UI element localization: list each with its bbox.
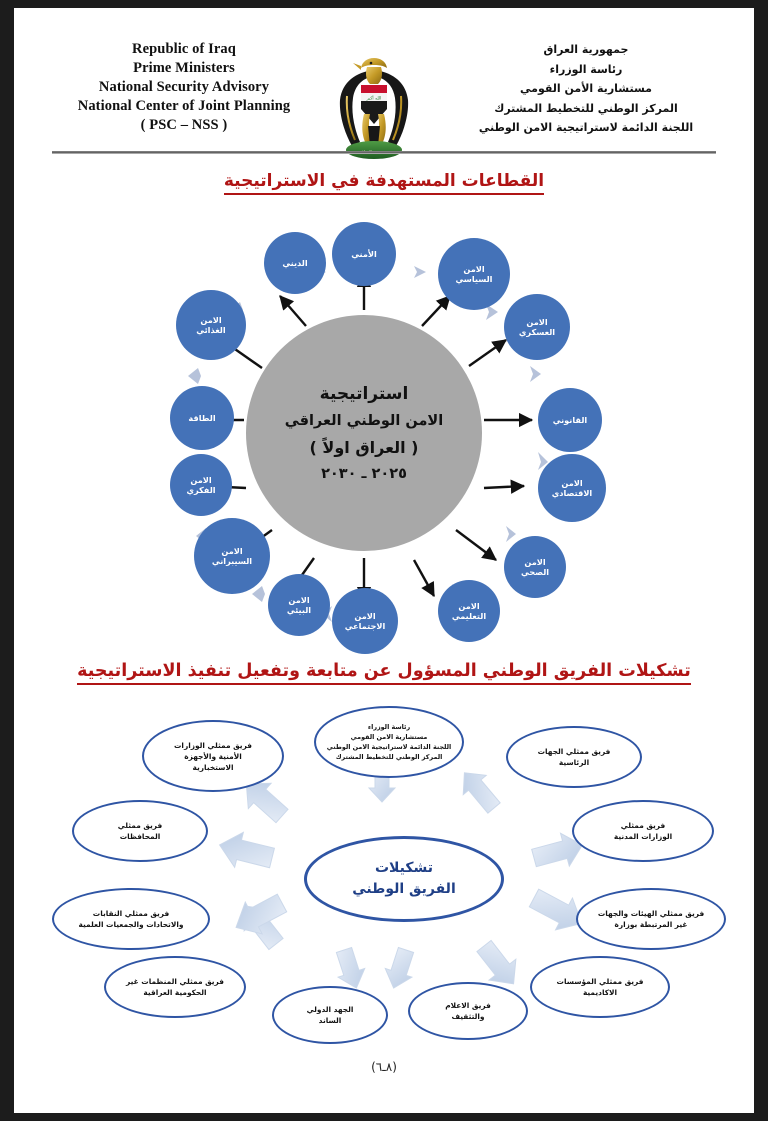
top-node-line-4: المركز الوطني للتخطيط المشترك: [327, 752, 451, 762]
team-label-civil-ministries: فريق ممثليالوزارات المدنية: [614, 820, 672, 842]
svg-text:الله أكبر: الله أكبر: [366, 94, 382, 101]
team-label-ngo: فريق ممثلي المنظمات غيرالحكومية العراقية: [126, 976, 224, 998]
sector-node-economic[interactable]: الامنالاقتصادي: [538, 454, 606, 522]
sector-node-legal[interactable]: القانوني: [538, 388, 602, 452]
document-page: Republic of Iraq Prime Ministers Nationa…: [14, 8, 754, 1113]
sector-node-security[interactable]: الأمني: [332, 222, 396, 286]
team-label-media: فريق الاعلاموالتثقيف: [445, 1000, 491, 1022]
center-node-line-2: الفريق الوطني: [352, 879, 456, 900]
top-node-line-2: مستشارية الامن القومي: [327, 732, 451, 742]
team-ellipse-civil-ministries[interactable]: فريق ممثليالوزارات المدنية: [572, 800, 714, 862]
core-line-3: ( العراق اولاً ): [310, 438, 419, 457]
section-2-title-text: تشكيلات الفريق الوطني المسؤول عن متابعة …: [77, 661, 691, 685]
header-en-line-2: Prime Ministers: [54, 59, 314, 78]
sector-node-environment[interactable]: الامنالبيئي: [268, 574, 330, 636]
team-label-presidential: فريق ممثلي الجهاتالرئاسية: [538, 746, 611, 768]
team-label-governorates: فريق ممثليالمحافظات: [118, 820, 163, 842]
sector-node-energy[interactable]: الطاقة: [170, 386, 234, 450]
header-ar-line-3: مستشارية الأمن القومي: [436, 79, 736, 99]
team-label-security-ministries: فريق ممثلي الوزاراتالأمنية والأجهزةالاست…: [174, 740, 252, 773]
team-ellipse-governorates[interactable]: فريق ممثليالمحافظات: [72, 800, 208, 862]
header-english-block: Republic of Iraq Prime Ministers Nationa…: [54, 40, 314, 135]
team-ellipse-non-ministerial[interactable]: فريق ممثلي الهيئات والجهاتغير المرتبطة ب…: [576, 888, 726, 950]
header-en-line-1: Republic of Iraq: [54, 40, 314, 59]
sector-node-health[interactable]: الامنالصحي: [504, 536, 566, 598]
national-team-formations-diagram: رئاسة الوزراء مستشارية الامن القومي اللج…: [14, 698, 754, 1058]
center-node-line-1: تشكيلات: [352, 858, 456, 879]
document-header: Republic of Iraq Prime Ministers Nationa…: [14, 30, 754, 150]
sector-node-intellect[interactable]: الامنالفكري: [170, 454, 232, 516]
team-ellipse-academic[interactable]: فريق ممثلي المؤسساتالاكاديمية: [530, 956, 670, 1018]
team-ellipse-top-authority[interactable]: رئاسة الوزراء مستشارية الامن القومي اللج…: [314, 706, 464, 778]
section-1-title-text: القطاعات المستهدفة في الاستراتيجية: [224, 171, 544, 195]
header-en-line-3: National Security Advisory: [54, 78, 314, 97]
top-node-line-3: اللجنة الدائمة لاستراتيجية الامن الوطني: [327, 742, 451, 752]
eagle-of-saladin-emblem: الله أكبر جمهورية العراق: [334, 52, 414, 164]
team-label-academic: فريق ممثلي المؤسساتالاكاديمية: [557, 976, 644, 998]
targeted-sectors-diagram: استراتيجية الامن الوطني العراقي ( العراق…: [14, 208, 754, 653]
sector-node-political[interactable]: الامنالسياسي: [438, 238, 510, 310]
team-ellipse-security-ministries[interactable]: فريق ممثلي الوزاراتالأمنية والأجهزةالاست…: [142, 720, 284, 792]
team-ellipse-unions[interactable]: فريق ممثلي النقاباتوالاتحادات والجمعيات …: [52, 888, 210, 950]
sector-node-education[interactable]: الامنالتعليمي: [438, 580, 500, 642]
core-line-2: الامن الوطني العراقي: [285, 413, 443, 429]
core-line-4: ٢٠٢٥ ـ ٢٠٣٠: [321, 466, 407, 482]
sector-node-cyber[interactable]: الامنالسيبراني: [194, 518, 270, 594]
team-label-international: الجهد الدوليالساند: [307, 1004, 354, 1026]
page-number: (٨ـ٦): [14, 1060, 754, 1074]
team-ellipse-center[interactable]: تشكيلات الفريق الوطني: [304, 836, 504, 922]
strategy-core-circle: استراتيجية الامن الوطني العراقي ( العراق…: [246, 315, 482, 551]
header-ar-line-2: رئاسة الوزراء: [436, 60, 736, 80]
team-label-non-ministerial: فريق ممثلي الهيئات والجهاتغير المرتبطة ب…: [598, 908, 704, 930]
sector-node-social[interactable]: الامنالاجتماعي: [332, 588, 398, 654]
header-ar-line-5: اللجنة الدائمة لاستراتيجية الامن الوطني: [436, 118, 736, 138]
core-line-1: استراتيجية: [320, 384, 409, 404]
team-label-unions: فريق ممثلي النقاباتوالاتحادات والجمعيات …: [79, 908, 184, 930]
header-arabic-block: جمهورية العراق رئاسة الوزراء مستشارية ال…: [436, 40, 736, 138]
header-ar-line-1: جمهورية العراق: [436, 40, 736, 60]
header-divider: [52, 151, 716, 154]
section-2-title: تشكيلات الفريق الوطني المسؤول عن متابعة …: [14, 661, 754, 685]
sector-node-food[interactable]: الامنالغذائي: [176, 290, 246, 360]
team-ellipse-media[interactable]: فريق الاعلاموالتثقيف: [408, 982, 528, 1040]
sector-node-religious[interactable]: الديني: [264, 232, 326, 294]
sector-node-military[interactable]: الامنالعسكري: [504, 294, 570, 360]
header-en-line-5: ( PSC – NSS ): [54, 116, 314, 135]
team-ellipse-presidential[interactable]: فريق ممثلي الجهاتالرئاسية: [506, 726, 642, 788]
team-ellipse-international[interactable]: الجهد الدوليالساند: [272, 986, 388, 1044]
header-en-line-4: National Center of Joint Planning: [54, 97, 314, 116]
header-ar-line-4: المركز الوطني للتخطيط المشترك: [436, 99, 736, 119]
section-1-title: القطاعات المستهدفة في الاستراتيجية: [14, 171, 754, 195]
team-ellipse-ngo[interactable]: فريق ممثلي المنظمات غيرالحكومية العراقية: [104, 956, 246, 1018]
top-node-line-1: رئاسة الوزراء: [327, 722, 451, 732]
